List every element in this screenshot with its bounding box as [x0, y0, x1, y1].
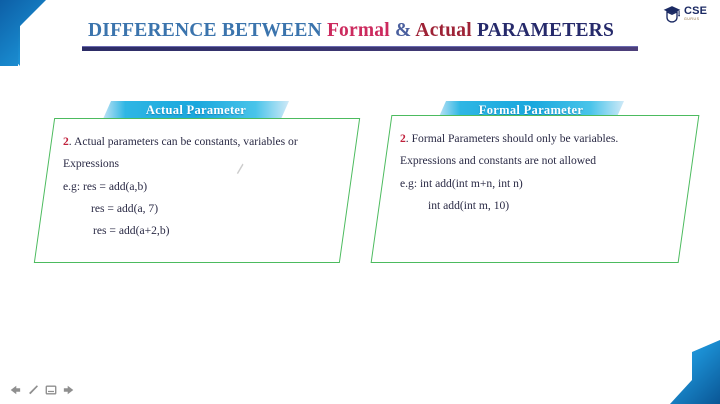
graduation-cap-icon: [662, 3, 682, 25]
formal-statement-continuation: Expressions and constants are not allowe…: [400, 150, 672, 172]
formal-statement-text: . Formal Parameters should only be varia…: [406, 132, 619, 145]
arrow-right-icon[interactable]: [62, 383, 76, 397]
logo-text: CSE GURUS: [684, 6, 707, 22]
logo-subtitle: GURUS: [684, 18, 699, 22]
title-part-ampersand: &: [395, 20, 415, 41]
title-part-formal: Formal: [327, 20, 390, 41]
slide-navigation-toolbar[interactable]: [8, 383, 76, 397]
formal-example-line-1: int add(int m, 10): [400, 195, 672, 217]
title-part-parameters: PARAMETERS: [477, 20, 614, 41]
actual-statement-line: 2. Actual parameters can be constants, v…: [63, 131, 333, 153]
pen-icon[interactable]: [26, 383, 40, 397]
content-box-actual-parameter: 2. Actual parameters can be constants, v…: [34, 118, 360, 263]
logo-name: CSE: [684, 6, 707, 17]
formal-example-label: e.g: int add(int m+n, int n): [400, 173, 672, 195]
page-title: DIFFERENCE BETWEEN Formal & Actual PARAM…: [88, 20, 640, 42]
banner-actual-parameter: Actual Parameter: [103, 101, 289, 119]
screen-icon[interactable]: [44, 383, 58, 397]
actual-example-label: e.g: res = add(a,b): [63, 176, 333, 198]
actual-statement-text: . Actual parameters can be constants, va…: [69, 135, 298, 148]
bottom-right-corner-decoration: [662, 340, 720, 404]
pen-cursor-icon: [236, 162, 244, 174]
cse-logo: CSE GURUS: [662, 1, 716, 26]
arrow-left-icon[interactable]: [8, 383, 22, 397]
content-box-formal-parameter: 2. Formal Parameters should only be vari…: [371, 115, 700, 263]
presentation-slide: CSE GURUS DIFFERENCE BETWEEN Formal & Ac…: [0, 0, 720, 404]
actual-statement-continuation: Expressions: [63, 153, 333, 175]
content-box-formal-inner: 2. Formal Parameters should only be vari…: [382, 116, 688, 262]
top-left-corner-decoration: [0, 0, 56, 66]
actual-example-line-2: res = add(a+2,b): [63, 220, 333, 242]
banner-actual-parameter-label: Actual Parameter: [146, 103, 246, 118]
formal-statement-line: 2. Formal Parameters should only be vari…: [400, 128, 672, 150]
title-divider: [82, 46, 638, 51]
actual-example-line-1: res = add(a, 7): [63, 198, 333, 220]
title-part-difference: DIFFERENCE BETWEEN: [88, 20, 327, 41]
content-box-actual-inner: 2. Actual parameters can be constants, v…: [45, 119, 349, 262]
title-part-actual: Actual: [415, 20, 471, 41]
